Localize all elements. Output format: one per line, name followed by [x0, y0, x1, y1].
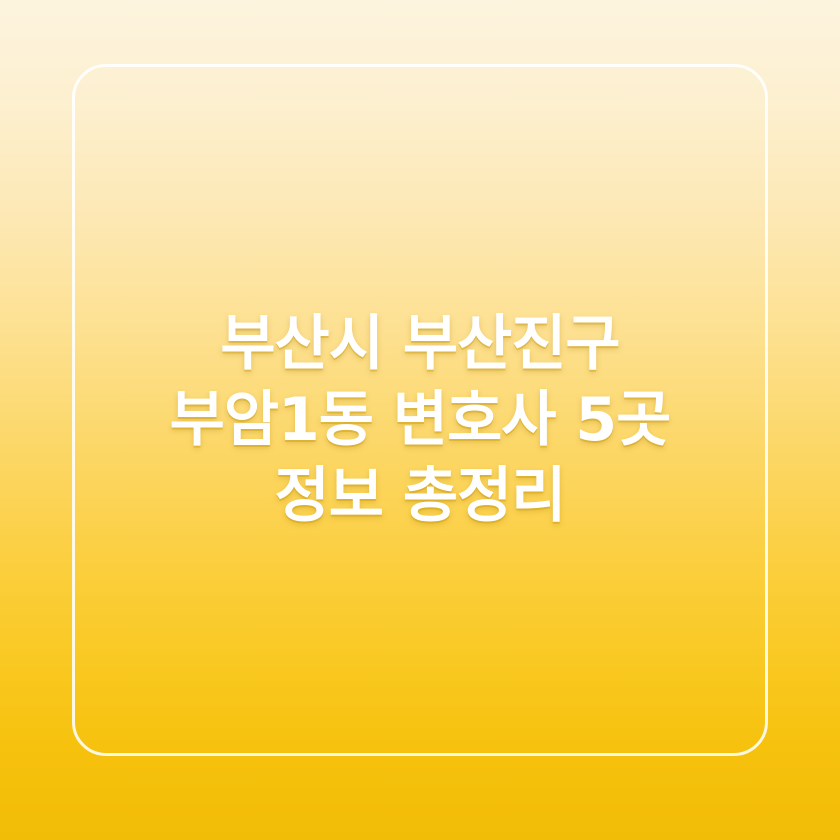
title-line-1: 부산시 부산진구 — [220, 306, 619, 382]
page-title: 부산시 부산진구 부암1동 변호사 5곳 정보 총정리 — [0, 0, 840, 840]
title-line-2: 부암1동 변호사 5곳 — [170, 382, 671, 458]
poster-canvas: 부산시 부산진구 부암1동 변호사 5곳 정보 총정리 — [0, 0, 840, 840]
title-line-3: 정보 총정리 — [275, 458, 566, 534]
